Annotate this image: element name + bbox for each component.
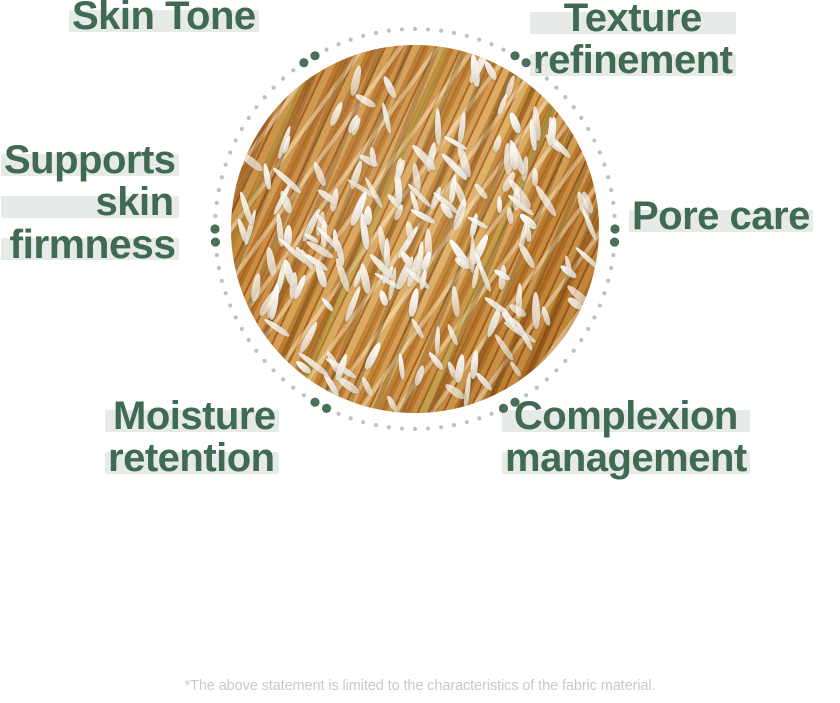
rice-grain	[265, 247, 277, 276]
rice-grain	[381, 102, 393, 135]
rice-grain	[506, 206, 514, 224]
ring-dot	[413, 27, 417, 31]
ring-dot	[217, 188, 221, 192]
ring-dot	[602, 291, 606, 295]
rice-grain	[434, 326, 440, 355]
rice-grain	[237, 149, 265, 173]
benefit-line: management	[505, 436, 747, 480]
rice-grain	[311, 160, 327, 187]
ring-dot	[465, 420, 469, 424]
rice-grain	[262, 163, 273, 190]
rice-grain	[507, 112, 522, 135]
ring-dot	[426, 27, 430, 31]
ring-dot	[439, 29, 443, 33]
rice-grain	[385, 395, 398, 413]
ring-dot	[361, 420, 365, 424]
rice-grains-photo	[231, 45, 599, 413]
ring-dot	[606, 175, 610, 179]
ring-dot	[465, 34, 469, 38]
rice-grain	[298, 320, 321, 355]
ring-dot	[220, 279, 224, 283]
rice-grain	[496, 196, 502, 213]
ring-dot	[612, 214, 616, 218]
footnote-disclaimer: *The above statement is limited to the c…	[0, 678, 840, 694]
benefit-label-skin-tone: Skin Tone	[72, 0, 256, 38]
rice-grain	[533, 183, 559, 218]
rice-grain	[483, 295, 505, 313]
benefit-line: Pore care	[632, 194, 810, 238]
rice-grain	[435, 108, 442, 146]
rice-grain	[532, 168, 538, 186]
ring-dot	[374, 423, 378, 427]
rice-grain	[482, 60, 498, 82]
ring-dot	[609, 188, 613, 192]
rice-grain	[413, 365, 426, 388]
ring-dot	[374, 31, 378, 35]
ring-dot	[477, 416, 481, 420]
infographic-canvas: Skin Tone Texture refinement Supports sk…	[0, 0, 840, 703]
ring-dot	[611, 253, 615, 257]
rice-grain	[397, 353, 405, 381]
rice-grain-cluster	[231, 45, 599, 413]
benefit-line: Skin Tone	[72, 0, 256, 38]
benefit-line: Supports	[4, 138, 176, 182]
ring-dot	[224, 163, 228, 167]
ring-dot	[349, 416, 353, 420]
ring-dot	[400, 426, 404, 430]
ring-accent-dot	[210, 224, 219, 233]
rice-grain	[384, 238, 390, 268]
rice-grain	[531, 291, 539, 329]
ring-dot	[387, 29, 391, 33]
ring-dot	[400, 27, 404, 31]
ring-dot	[217, 266, 221, 270]
rice-grain	[496, 92, 510, 116]
rice-grain	[353, 91, 377, 109]
rice-grain	[493, 333, 515, 361]
ring-accent-dot	[610, 224, 619, 233]
ring-dot	[361, 34, 365, 38]
ring-dot	[387, 425, 391, 429]
rice-grain	[363, 206, 372, 225]
rice-grain	[250, 272, 263, 302]
rice-grain	[452, 198, 469, 232]
rice-grain	[362, 341, 383, 371]
rice-grain	[409, 317, 425, 339]
ring-dot	[609, 266, 613, 270]
rice-grain	[395, 158, 404, 177]
benefit-line: Texture	[564, 0, 702, 40]
ring-accent-dot	[211, 237, 220, 246]
ring-dot	[413, 427, 417, 431]
rice-grain	[359, 262, 373, 294]
rice-grain	[457, 112, 467, 145]
rice-grain	[381, 74, 398, 98]
ring-dot	[452, 423, 456, 427]
rice-grain	[328, 101, 345, 128]
rice-grain	[512, 187, 520, 211]
rice-grain	[405, 220, 415, 240]
rice-grain	[453, 255, 471, 270]
rice-grain	[492, 134, 503, 152]
ring-dot	[349, 38, 353, 42]
rice-grain	[451, 286, 461, 318]
ring-dot	[220, 175, 224, 179]
ring-dot	[213, 214, 217, 218]
rice-grain	[509, 360, 523, 378]
rice-grain	[360, 376, 374, 397]
ring-dot	[224, 291, 228, 295]
rice-grain	[321, 297, 336, 313]
ring-dot	[215, 201, 219, 205]
ring-dot	[452, 31, 456, 35]
rice-grain	[474, 371, 494, 392]
rice-grain	[473, 182, 489, 200]
benefit-line: firmness	[9, 221, 175, 267]
ring-dot	[477, 38, 481, 42]
rice-grain	[407, 287, 420, 317]
ring-dot	[215, 253, 219, 257]
benefit-label-supports-skin-firmness: Supports skin firmness	[4, 140, 176, 266]
rice-grain	[446, 323, 460, 346]
benefit-line: retention	[108, 436, 275, 480]
benefit-label-pore-care: Pore care	[632, 196, 810, 238]
benefit-line: skin	[96, 180, 174, 224]
rice-grain	[574, 245, 599, 271]
rice-grain	[476, 261, 492, 292]
rice-grain	[443, 134, 468, 151]
rice-grain	[263, 318, 291, 339]
rice-grain	[444, 381, 467, 401]
ring-dot	[611, 201, 615, 205]
ring-dot	[602, 163, 606, 167]
ring-dot	[439, 425, 443, 429]
rice-grain	[540, 306, 551, 327]
rice-grain	[348, 64, 362, 96]
ring-dot	[606, 279, 610, 283]
rice-grain	[454, 353, 467, 383]
ring-accent-dot	[610, 237, 619, 246]
ring-dot	[426, 426, 430, 430]
